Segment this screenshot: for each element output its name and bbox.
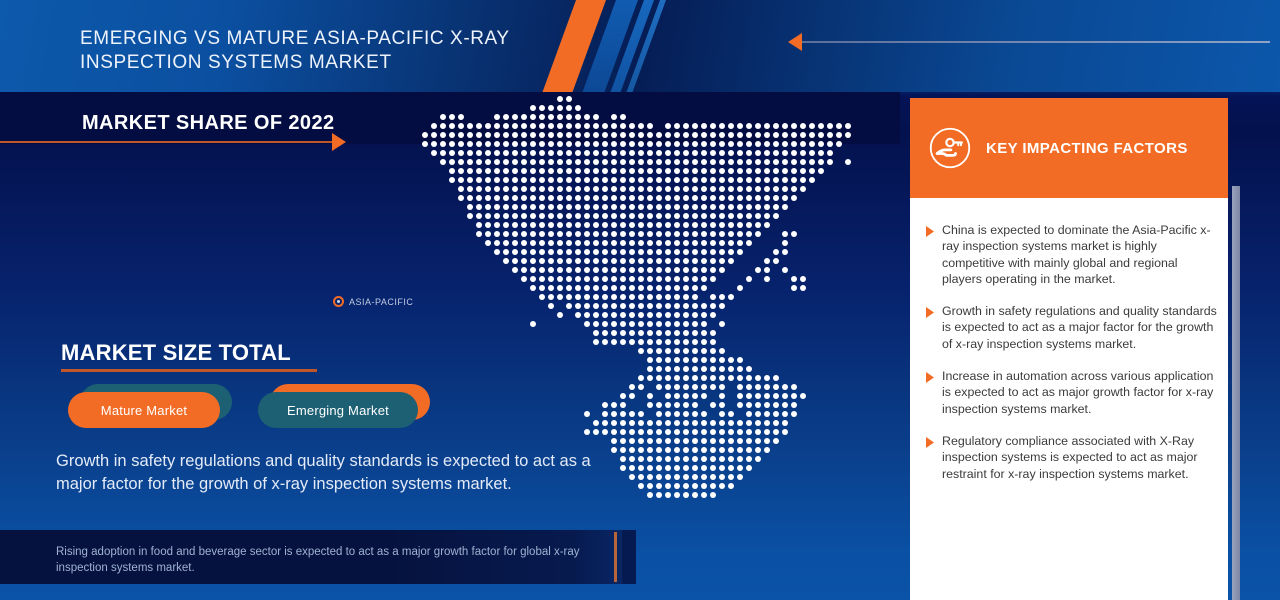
map-dot [620, 177, 626, 183]
map-dot [692, 393, 698, 399]
map-dot [629, 465, 635, 471]
map-dot [602, 276, 608, 282]
map-dot [647, 141, 653, 147]
map-dot [683, 330, 689, 336]
map-dot [773, 384, 779, 390]
map-dot [674, 402, 680, 408]
map-dot [746, 384, 752, 390]
map-dot [458, 132, 464, 138]
map-dot [449, 123, 455, 129]
map-dot [674, 321, 680, 327]
map-dot [755, 438, 761, 444]
map-dot [656, 159, 662, 165]
map-dot [620, 294, 626, 300]
map-dot [773, 159, 779, 165]
map-dot [755, 150, 761, 156]
map-dot [746, 123, 752, 129]
map-dot [701, 249, 707, 255]
map-dot [611, 123, 617, 129]
map-dot [719, 483, 725, 489]
map-dot [809, 150, 815, 156]
map-dot [710, 258, 716, 264]
map-dot [521, 231, 527, 237]
legend-pill-mature-market[interactable]: Mature Market [68, 392, 220, 432]
map-dot [719, 204, 725, 210]
map-dot [602, 213, 608, 219]
map-dot [638, 159, 644, 165]
bullet-arrow-icon [926, 222, 942, 287]
map-dot [593, 312, 599, 318]
map-dot [755, 123, 761, 129]
map-dot [710, 330, 716, 336]
map-dot [611, 339, 617, 345]
map-dot [710, 447, 716, 453]
map-dot [665, 384, 671, 390]
map-dot [431, 123, 437, 129]
map-dot [566, 168, 572, 174]
map-dot [728, 204, 734, 210]
map-dot [467, 204, 473, 210]
map-dot [467, 168, 473, 174]
map-dot [647, 240, 653, 246]
map-dot [755, 393, 761, 399]
map-dot [530, 177, 536, 183]
map-dot [548, 231, 554, 237]
map-dot [791, 141, 797, 147]
map-dot [575, 267, 581, 273]
map-dot [656, 177, 662, 183]
map-dot [584, 411, 590, 417]
map-dot [494, 150, 500, 156]
map-dot [629, 411, 635, 417]
map-dot [629, 195, 635, 201]
map-dot [593, 303, 599, 309]
map-dot [512, 195, 518, 201]
map-dot [755, 177, 761, 183]
map-dot [575, 258, 581, 264]
map-dot [692, 240, 698, 246]
map-dot [692, 231, 698, 237]
map-dot [773, 168, 779, 174]
map-dot [701, 375, 707, 381]
map-dot [611, 177, 617, 183]
map-dot [701, 393, 707, 399]
map-dot [683, 438, 689, 444]
map-dot [530, 141, 536, 147]
map-dot [575, 114, 581, 120]
map-dot [719, 357, 725, 363]
map-dot [494, 186, 500, 192]
map-dot [701, 303, 707, 309]
map-dot [638, 447, 644, 453]
map-dot [521, 168, 527, 174]
map-dot [683, 411, 689, 417]
map-dot [701, 195, 707, 201]
map-dot [737, 141, 743, 147]
bottom-strip-text: Rising adoption in food and beverage sec… [56, 544, 596, 576]
map-dot [467, 213, 473, 219]
map-dot [701, 411, 707, 417]
map-dot [701, 312, 707, 318]
map-dot [728, 222, 734, 228]
map-dot [665, 303, 671, 309]
map-dot [746, 186, 752, 192]
map-dot [629, 132, 635, 138]
map-dot [647, 483, 653, 489]
map-dot [629, 285, 635, 291]
map-dot [485, 195, 491, 201]
map-dot [602, 141, 608, 147]
map-dot [647, 123, 653, 129]
map-dot [602, 204, 608, 210]
map-dot [647, 249, 653, 255]
map-dot [656, 429, 662, 435]
map-dot [512, 258, 518, 264]
map-dot [692, 420, 698, 426]
map-dot [503, 132, 509, 138]
map-dot [593, 123, 599, 129]
map-dot [719, 375, 725, 381]
map-dot [800, 177, 806, 183]
map-dot [674, 456, 680, 462]
map-dot [458, 177, 464, 183]
map-dot [647, 294, 653, 300]
map-dot [593, 285, 599, 291]
map-dot [638, 456, 644, 462]
map-dot [656, 222, 662, 228]
map-dot [692, 465, 698, 471]
map-dot [593, 150, 599, 156]
map-dot [593, 222, 599, 228]
map-dot [692, 123, 698, 129]
map-dot [530, 204, 536, 210]
map-dot [467, 159, 473, 165]
map-dot [674, 249, 680, 255]
map-dot [719, 150, 725, 156]
map-dot [836, 141, 842, 147]
map-dot [620, 321, 626, 327]
map-dot [656, 438, 662, 444]
map-dot [467, 186, 473, 192]
map-dot [782, 204, 788, 210]
map-dot [539, 204, 545, 210]
map-dot [701, 339, 707, 345]
map-dot [638, 420, 644, 426]
map-dot [647, 195, 653, 201]
map-dot [539, 195, 545, 201]
list-item: China is expected to dominate the Asia-P… [926, 222, 1218, 287]
map-dot [584, 177, 590, 183]
map-dot [620, 393, 626, 399]
map-dot [494, 177, 500, 183]
map-dot [539, 141, 545, 147]
map-dot [719, 294, 725, 300]
map-dot [494, 159, 500, 165]
map-dot [674, 168, 680, 174]
map-dot [719, 159, 725, 165]
map-dot [674, 393, 680, 399]
map-dot [530, 249, 536, 255]
map-dot [764, 429, 770, 435]
map-dot [710, 348, 716, 354]
map-dot [521, 150, 527, 156]
map-dot [611, 222, 617, 228]
map-dot [710, 213, 716, 219]
map-dot [539, 294, 545, 300]
map-dot [692, 429, 698, 435]
map-dot [737, 249, 743, 255]
map-dot [764, 375, 770, 381]
map-dot [728, 474, 734, 480]
map-dot [620, 123, 626, 129]
map-dot [620, 222, 626, 228]
map-dot [476, 222, 482, 228]
map-dot [431, 150, 437, 156]
map-dot [728, 294, 734, 300]
map-dot [620, 285, 626, 291]
map-dot [701, 357, 707, 363]
map-dot [647, 186, 653, 192]
map-dot [557, 231, 563, 237]
map-dot [791, 132, 797, 138]
map-dot [719, 168, 725, 174]
map-dot [701, 384, 707, 390]
map-dot [692, 222, 698, 228]
map-dot [647, 231, 653, 237]
bullet-arrow-icon [926, 303, 942, 352]
map-dot [683, 465, 689, 471]
map-dot [791, 393, 797, 399]
map-dot [674, 285, 680, 291]
map-dot [494, 204, 500, 210]
map-dot [782, 240, 788, 246]
map-dot [647, 420, 653, 426]
map-dot [782, 177, 788, 183]
map-dot [782, 231, 788, 237]
map-dot [746, 393, 752, 399]
map-dot [575, 159, 581, 165]
map-dot [548, 141, 554, 147]
map-dot [755, 204, 761, 210]
map-dot [656, 231, 662, 237]
map-dot [638, 186, 644, 192]
map-dot [773, 393, 779, 399]
list-item: Increase in automation across various ap… [926, 368, 1218, 417]
map-dot [728, 456, 734, 462]
map-dot [692, 348, 698, 354]
map-dot [656, 258, 662, 264]
map-dot [485, 222, 491, 228]
map-dot [683, 366, 689, 372]
map-dot [665, 447, 671, 453]
map-dot [476, 150, 482, 156]
map-dot [611, 195, 617, 201]
map-dot [647, 222, 653, 228]
map-dot [728, 186, 734, 192]
map-dot [728, 438, 734, 444]
map-dot [728, 231, 734, 237]
map-dot [728, 123, 734, 129]
map-dot [503, 231, 509, 237]
map-dot [521, 222, 527, 228]
map-dot [710, 357, 716, 363]
map-dot [647, 321, 653, 327]
map-dot [710, 231, 716, 237]
map-dot [692, 384, 698, 390]
map-dot [575, 204, 581, 210]
map-dot [701, 456, 707, 462]
map-dot [647, 258, 653, 264]
map-dot [692, 285, 698, 291]
map-dot [557, 276, 563, 282]
map-dot [593, 195, 599, 201]
map-dot [656, 474, 662, 480]
map-dot [665, 285, 671, 291]
map-dot [755, 213, 761, 219]
map-dot [539, 105, 545, 111]
map-dot [764, 276, 770, 282]
map-dot [458, 114, 464, 120]
map-dot [791, 123, 797, 129]
map-dot [584, 312, 590, 318]
map-dot [656, 330, 662, 336]
map-dot [746, 159, 752, 165]
map-dot [539, 267, 545, 273]
map-dot [737, 150, 743, 156]
map-dot [656, 348, 662, 354]
map-dot [593, 132, 599, 138]
map-dot [719, 231, 725, 237]
map-dot [791, 150, 797, 156]
map-dot [611, 303, 617, 309]
map-dot [746, 150, 752, 156]
map-dot [593, 429, 599, 435]
map-dot [719, 258, 725, 264]
map-dot [611, 285, 617, 291]
map-dot [692, 168, 698, 174]
map-dot [818, 141, 824, 147]
map-dot [800, 150, 806, 156]
map-dot [728, 420, 734, 426]
map-dot [710, 303, 716, 309]
map-dot [746, 276, 752, 282]
map-dot [701, 231, 707, 237]
map-dot [701, 177, 707, 183]
map-dot [728, 213, 734, 219]
map-dot [458, 123, 464, 129]
map-dot [665, 348, 671, 354]
map-dot [620, 186, 626, 192]
map-dot [656, 402, 662, 408]
bullseye-target-icon [333, 296, 344, 307]
pill-face: Mature Market [68, 392, 220, 428]
map-dot [620, 114, 626, 120]
map-dot [773, 177, 779, 183]
map-dot [683, 420, 689, 426]
map-dot [611, 411, 617, 417]
map-dot [521, 186, 527, 192]
map-dot [647, 285, 653, 291]
map-dot [728, 240, 734, 246]
map-dot [773, 258, 779, 264]
map-dot [647, 465, 653, 471]
map-dot [557, 186, 563, 192]
map-dot [548, 267, 554, 273]
map-dot [485, 159, 491, 165]
map-dot [665, 483, 671, 489]
map-dot [575, 123, 581, 129]
region-tag: ASIA-PACIFIC [333, 296, 413, 307]
map-dot [566, 114, 572, 120]
map-dot [512, 231, 518, 237]
map-dot [620, 447, 626, 453]
map-dot [710, 159, 716, 165]
map-dot [674, 159, 680, 165]
map-dot [503, 177, 509, 183]
map-dot [710, 141, 716, 147]
map-dot [782, 402, 788, 408]
map-dot [683, 429, 689, 435]
map-dot [611, 420, 617, 426]
map-dot [548, 114, 554, 120]
map-dot [746, 420, 752, 426]
map-dot [638, 294, 644, 300]
map-dot [593, 204, 599, 210]
map-dot [449, 168, 455, 174]
bottom-strip-accent-bar [614, 532, 617, 582]
legend-pill-emerging-market[interactable]: Emerging Market [258, 392, 418, 432]
map-dot [764, 402, 770, 408]
map-dot [422, 132, 428, 138]
map-dot [683, 204, 689, 210]
map-dot [764, 159, 770, 165]
map-dot [584, 150, 590, 156]
map-dot [782, 429, 788, 435]
map-dot [656, 240, 662, 246]
map-dot [692, 438, 698, 444]
map-dot [584, 231, 590, 237]
map-dot [530, 267, 536, 273]
map-dot [764, 411, 770, 417]
map-dot [737, 402, 743, 408]
map-dot [692, 456, 698, 462]
map-dot [710, 150, 716, 156]
map-dot [431, 132, 437, 138]
map-dot [818, 168, 824, 174]
map-dot [692, 474, 698, 480]
map-dot [575, 303, 581, 309]
map-dot [638, 249, 644, 255]
map-dot [557, 204, 563, 210]
map-dot [548, 177, 554, 183]
map-dot [809, 132, 815, 138]
key-factors-list: China is expected to dominate the Asia-P… [926, 222, 1218, 498]
map-dot [602, 150, 608, 156]
map-dot [566, 96, 572, 102]
map-dot [557, 105, 563, 111]
map-dot [656, 294, 662, 300]
map-dot [530, 276, 536, 282]
map-dot [647, 213, 653, 219]
map-dot [647, 429, 653, 435]
map-dot [728, 411, 734, 417]
map-dot [458, 186, 464, 192]
list-item-text: Regulatory compliance associated with X-… [942, 433, 1218, 482]
map-dot [512, 240, 518, 246]
map-dot [674, 411, 680, 417]
map-dot [665, 132, 671, 138]
map-dot [683, 294, 689, 300]
